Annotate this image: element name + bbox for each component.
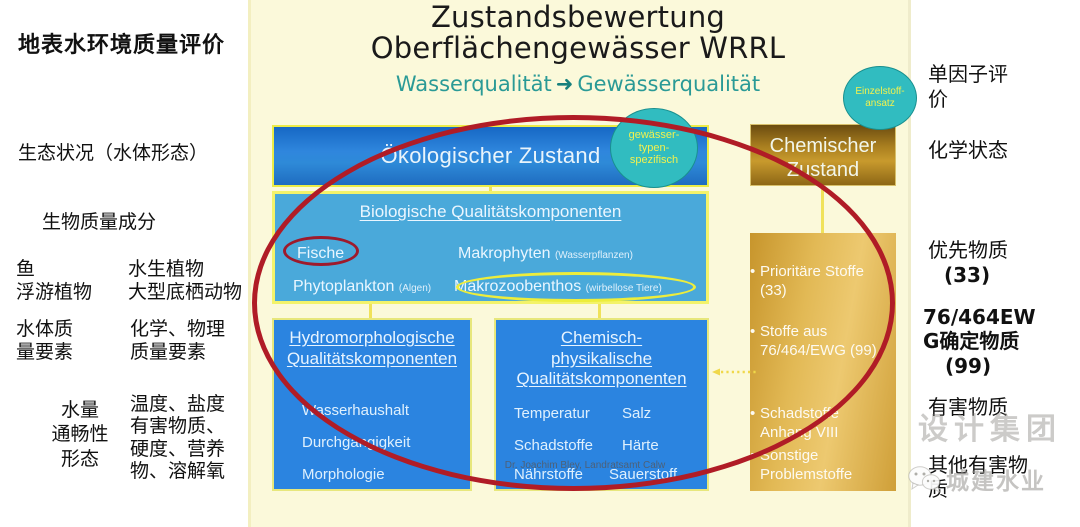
subtitle-left-term: Wasserqualität xyxy=(396,72,552,96)
cn-priority-substances-count: (33) xyxy=(928,263,1008,288)
cn-ewg-substances-text: 76/464EW G确定物质 xyxy=(923,305,1036,353)
cn-chemical-status-label: 化学状态 xyxy=(928,134,1008,163)
slide-title: Zustandsbewertung Oberflächengewässer WR… xyxy=(258,2,898,65)
cn-ewg-substances: 76/464EW G确定物质 (99) xyxy=(923,305,1036,378)
cn-biological-quality-label: 生物质量成分 xyxy=(42,207,156,234)
slide-left-edge xyxy=(248,0,251,527)
highlight-ellipse-main xyxy=(252,115,895,491)
subtitle-right-term: Gewässerqualität xyxy=(577,72,760,96)
arrow-right-icon: ➜ xyxy=(552,72,578,96)
cn-priority-substances-text: 优先物质 xyxy=(928,238,1008,262)
substance-item-3: Sonstige Problemstoffe xyxy=(760,447,884,485)
cn-priority-substances: 优先物质 (33) xyxy=(928,238,1008,288)
slide-title-line2: Oberflächengewässer WRRL xyxy=(258,33,898,64)
watermark-wechat-text: 城建水业 xyxy=(946,462,1046,496)
hydromorphological-item-2: Morphologie xyxy=(302,466,385,483)
screenshot-root: Zustandsbewertung Oberflächengewässer WR… xyxy=(0,0,1080,527)
cn-ewg-substances-count: (99) xyxy=(923,354,1036,378)
slide-title-line1: Zustandsbewertung xyxy=(258,2,898,33)
slide-subtitle: Wasserqualität➜Gewässerqualität xyxy=(258,72,898,96)
callout-einzelstoffansatz: Einzelstoff- ansatz xyxy=(843,66,917,130)
cn-ecological-status-label: 生态状况（水体形态） xyxy=(18,138,208,165)
cn-heading: 地表水环境质量评价 xyxy=(18,27,225,59)
cn-chemphys-items: 温度、盐度 有害物质、 硬度、营养 物、溶解氧 xyxy=(130,393,225,483)
cn-hydro-items: 水量 通畅性 形态 xyxy=(28,398,132,471)
cn-hydro-col1: 水体质 量要素 xyxy=(16,318,73,364)
watermark-faint-text: 设计集团 xyxy=(918,404,1062,448)
cn-chemphys-col1: 化学、物理 质量要素 xyxy=(130,318,225,364)
cn-bio-col2: 水生植物 大型底栖动物 xyxy=(128,258,242,304)
wechat-icon xyxy=(908,465,942,493)
cn-bio-col1: 鱼 浮游植物 xyxy=(16,258,92,304)
watermark-wechat: 城建水业 xyxy=(908,462,1046,496)
callout-einzelstoffansatz-text: Einzelstoff- ansatz xyxy=(855,86,904,110)
cn-single-factor-label: 单因子评 价 xyxy=(928,62,1008,112)
